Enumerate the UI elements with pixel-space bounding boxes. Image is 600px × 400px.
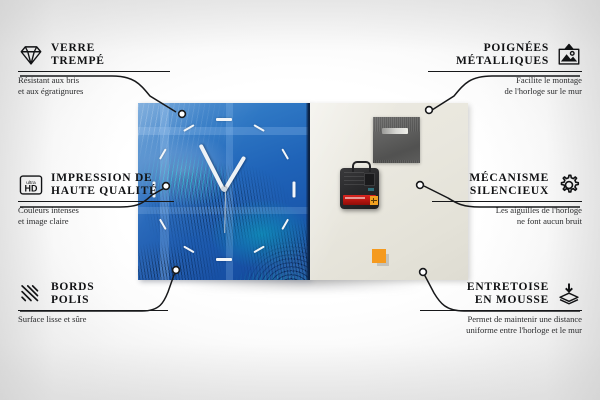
feature-title: IMPRESSION DE HAUTE QUALITÉ	[51, 172, 158, 198]
feature-title: BORDS POLIS	[51, 281, 94, 307]
feature-divider	[428, 71, 582, 72]
feature-header: BORDS POLIS	[18, 281, 168, 307]
clock-minute-hand	[199, 144, 226, 192]
feature-subtitle: Les aiguilles de l'horloge ne font aucun…	[432, 205, 582, 226]
feature-divider	[18, 201, 174, 202]
polished-edges-icon	[18, 281, 44, 307]
feature-header: MÉCANISME SILENCIEUX	[432, 172, 582, 198]
feature-divider	[420, 310, 582, 311]
feature-header: POIGNÉES MÉTALLIQUES	[428, 42, 582, 68]
feature-header: VERRE TREMPÉ	[18, 42, 170, 68]
feature-subtitle: Facilite le montage de l'horloge sur le …	[428, 75, 582, 96]
battery	[343, 195, 376, 205]
battery-label	[345, 197, 365, 199]
metal-hanger-plate	[373, 117, 420, 163]
product-image	[138, 103, 468, 280]
feature-mecanisme-silencieux[interactable]: MÉCANISME SILENCIEUX Les aiguilles de l'…	[432, 172, 582, 226]
feature-header: ENTRETOISE EN MOUSSE	[420, 281, 582, 307]
clock-mechanism	[340, 168, 379, 209]
ultra-hd-icon: ultra HD	[18, 172, 44, 198]
feature-bords-polis[interactable]: BORDS POLIS Surface lisse et sûre	[18, 281, 168, 325]
feature-header: ultra HD IMPRESSION DE HAUTE QUALITÉ	[18, 172, 174, 198]
feature-title: VERRE TREMPÉ	[51, 42, 105, 68]
feature-verre-trempe[interactable]: VERRE TREMPÉ Résistant aux bris et aux é…	[18, 42, 170, 96]
mechanism-chip	[364, 173, 375, 186]
feature-divider	[432, 201, 582, 202]
feature-subtitle: Couleurs intenses et image claire	[18, 205, 174, 226]
feature-poignees-metalliques[interactable]: POIGNÉES MÉTALLIQUES Facilite le montage…	[428, 42, 582, 96]
feature-divider	[18, 71, 170, 72]
feature-title: MÉCANISME SILENCIEUX	[469, 172, 549, 198]
battery-plus-terminal	[370, 196, 378, 205]
gear-icon	[556, 172, 582, 198]
diamond-icon	[18, 42, 44, 68]
foam-spacer-icon	[556, 281, 582, 307]
clock-second-hand	[224, 189, 226, 233]
feature-subtitle: Surface lisse et sûre	[18, 314, 168, 324]
feature-title: ENTRETOISE EN MOUSSE	[467, 281, 549, 307]
mechanism-hanging-loop	[352, 161, 371, 172]
feature-title: POIGNÉES MÉTALLIQUES	[456, 42, 549, 68]
mechanism-led	[368, 188, 374, 191]
mechanism-grill	[344, 172, 364, 187]
clock-center-pivot	[222, 187, 227, 192]
feature-entretoise-en-mousse[interactable]: ENTRETOISE EN MOUSSE Permet de maintenir…	[420, 281, 582, 335]
feature-impression-haute-qualite[interactable]: ultra HD IMPRESSION DE HAUTE QUALITÉ Cou…	[18, 172, 174, 226]
foam-spacer	[372, 249, 386, 263]
picture-hanger-icon	[556, 42, 582, 68]
infographic-canvas: VERRE TREMPÉ Résistant aux bris et aux é…	[0, 0, 600, 400]
feature-subtitle: Résistant aux bris et aux égratignures	[18, 75, 170, 96]
feature-divider	[18, 310, 168, 311]
feature-subtitle: Permet de maintenir une distance uniform…	[420, 314, 582, 335]
hanger-slot	[382, 128, 408, 134]
svg-text:HD: HD	[25, 184, 38, 194]
